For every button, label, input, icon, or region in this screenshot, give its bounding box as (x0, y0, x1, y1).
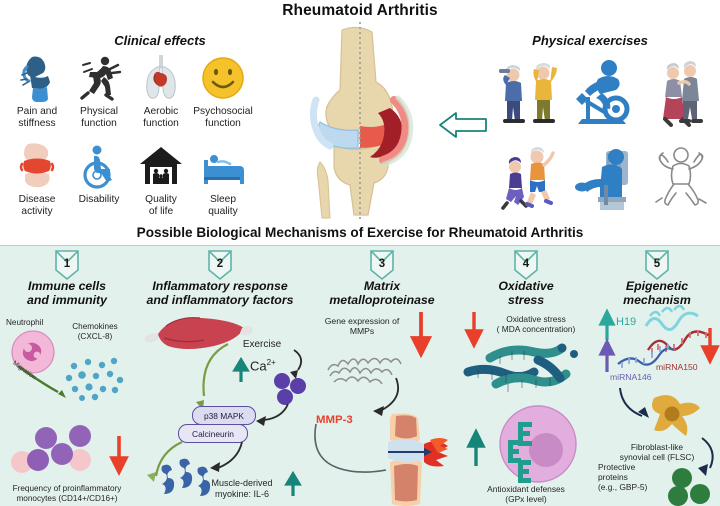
exercise-item-stationary-bike (567, 52, 642, 136)
panel-title-3: Matrixmetalloproteinase (306, 279, 458, 307)
exercise-item-dumbbells (492, 52, 567, 136)
knee-joint-half-healthy-half-inflamed-icon (290, 22, 430, 222)
clinical-label-line2: of life (149, 206, 173, 217)
calcium-ion-cluster-icon (272, 372, 308, 406)
mirna146-increase-arrow-icon (600, 342, 614, 372)
label-oxidative-stress: Oxidative stress( MDA concentration) (482, 314, 590, 334)
panel-title-2: Inflammatory responseand inflammatory fa… (134, 279, 306, 307)
clinical-item-pain-and-stiffness: Pain and stiffness (6, 52, 68, 140)
mirna150-decrease-arrow-icon (702, 328, 718, 362)
clinical-label-line1: Disability (79, 194, 120, 205)
clinical-label-line1: Physical (80, 106, 118, 117)
clinical-label-line1: Aerobic (144, 106, 179, 117)
label-myokine-il6: Muscle-derivedmyokine: IL-6 (200, 478, 284, 499)
antioxidant-increase-arrow-icon (468, 432, 484, 466)
clinical-label-line2: quality (208, 206, 237, 217)
badge-2: 2 (207, 250, 233, 280)
mechanism-panel-5: 5 Epigeneticmechanism H19 miRNA15 (594, 246, 720, 506)
clinical-effects-grid: Pain and stiffness (6, 52, 256, 218)
muscle-to-p38-arrow-icon (190, 342, 236, 410)
badge-1: 1 (54, 250, 80, 280)
clinical-item-quality-of-life: Quality of life (130, 140, 192, 218)
il6-increase-arrow-icon (286, 474, 300, 496)
label-h19: H19 (616, 316, 636, 328)
running-seniors-icon (493, 139, 567, 217)
monocyte-cells-icon (6, 424, 108, 484)
clinical-label-line2: stiffness (18, 118, 55, 129)
clinical-item-disability: Disability (68, 140, 130, 218)
panel-title-5: Epigeneticmechanism (594, 279, 720, 307)
clinical-label-line1: Pain and (17, 106, 57, 117)
clinical-item-sleep-quality: Sleep quality (192, 140, 254, 218)
label-mirna146: miRNA146 (610, 372, 652, 382)
label-gene-expression-mmps: Gene expression ofMMPs (314, 316, 410, 336)
house-family-icon (138, 140, 184, 192)
top-section: Rheumatoid Arthritis Clinical effects Ph… (0, 0, 720, 228)
calcineurin-to-il6-arrow-icon (208, 440, 250, 480)
protective-proteins-icon (668, 470, 720, 506)
clinical-item-disease-activity: Disease activity (6, 140, 68, 218)
figure-root: Rheumatoid Arthritis Clinical effects Ph… (0, 0, 720, 506)
badge-5: 5 (644, 250, 670, 280)
panel-title-1: Immune cellsand immunity (0, 279, 134, 307)
calcium-to-p38-arrow-icon (254, 402, 292, 428)
exercise-item-tai-chi (642, 136, 717, 220)
clinical-label-line1: Psychosocial (193, 106, 252, 117)
mechanism-panel-1: 1 Immune cellsand immunity Neutrophil Ch… (0, 246, 134, 506)
badge-number: 5 (644, 258, 670, 270)
badge-3: 3 (369, 250, 395, 280)
p38-mapk-node: p38 MAPK (192, 406, 256, 425)
knee-pain-icon (16, 52, 58, 104)
label-antioxidant-defenses: Antioxidant defenses(GPx level) (458, 484, 594, 504)
mechanism-panel-4: 4 Oxidativestress Oxidative stress( MDA … (458, 246, 594, 506)
h19-increase-arrow-icon (600, 312, 614, 340)
exercise-item-dancing (642, 52, 717, 136)
label-chemokines: Chemokines(CXCL-8) (60, 322, 130, 341)
clinical-label-line2: function (81, 118, 117, 129)
section-banner: Possible Biological Mechanisms of Exerci… (0, 222, 720, 246)
bed-sleep-icon (200, 140, 246, 192)
wheelchair-icon (77, 140, 121, 192)
dumbbell-seniors-icon (493, 55, 567, 133)
physical-exercises-grid (492, 52, 718, 220)
label-monocyte-frequency: Frequency of proinflammatorymonocytes (C… (0, 484, 134, 503)
label-protective-proteins: Protectiveproteins(e.g., GBP-5) (598, 462, 670, 492)
page-title: Rheumatoid Arthritis (0, 2, 720, 20)
antioxidant-cell-icon (496, 404, 580, 484)
physical-exercises-heading: Physical exercises (500, 33, 680, 48)
clinical-item-psychosocial-function: Psychosocial function (192, 52, 254, 140)
badge-number: 1 (54, 258, 80, 270)
calcium-increase-arrow-icon (234, 360, 248, 382)
clinical-item-physical-function: Physical function (68, 52, 130, 140)
clinical-label-line1: Disease (19, 194, 56, 205)
badge-number: 2 (207, 258, 233, 270)
clinical-label-line1: Quality (145, 194, 177, 205)
clinical-effects-heading: Clinical effects (60, 33, 260, 48)
badge-4: 4 (513, 250, 539, 280)
smiley-face-icon (200, 52, 246, 104)
exercise-item-running (492, 136, 567, 220)
badge-number: 4 (513, 258, 539, 270)
runner-icon (76, 52, 122, 104)
clinical-label-line2: function (205, 118, 241, 129)
left-pointing-arrow-icon (438, 112, 488, 138)
mmp3-to-joint-arrow-icon (310, 422, 390, 484)
mechanisms-section: 1 Immune cellsand immunity Neutrophil Ch… (0, 246, 720, 506)
banner-title: Possible Biological Mechanisms of Exerci… (0, 222, 720, 244)
leg-press-machine-icon (568, 139, 642, 217)
chemokine-dots-icon (62, 356, 132, 404)
dancing-couple-icon (643, 55, 717, 133)
mirna146-strand-icon (616, 342, 676, 372)
badge-number: 3 (369, 258, 395, 270)
inflamed-joint-icon (15, 140, 59, 192)
tai-chi-icon (643, 139, 717, 217)
mechanism-panel-2: 2 Inflammatory responseand inflammatory … (134, 246, 306, 506)
knee-joint-illustration (290, 22, 430, 222)
clinical-label-line1: Sleep (210, 194, 236, 205)
clinical-item-aerobic-function: Aerobic function (130, 52, 192, 140)
panel-title-4: Oxidativestress (458, 279, 594, 307)
lungs-heart-icon (139, 52, 183, 104)
monocyte-decrease-arrow-icon (110, 436, 128, 476)
clinical-label-line2: activity (21, 206, 52, 217)
exercise-item-leg-press (567, 136, 642, 220)
clinical-label-line2: function (143, 118, 179, 129)
mechanism-panel-3: 3 Matrixmetalloproteinase Gene expressio… (306, 246, 458, 506)
stationary-bike-icon (568, 55, 642, 133)
lipid-peroxidation-chains-icon (462, 340, 590, 396)
